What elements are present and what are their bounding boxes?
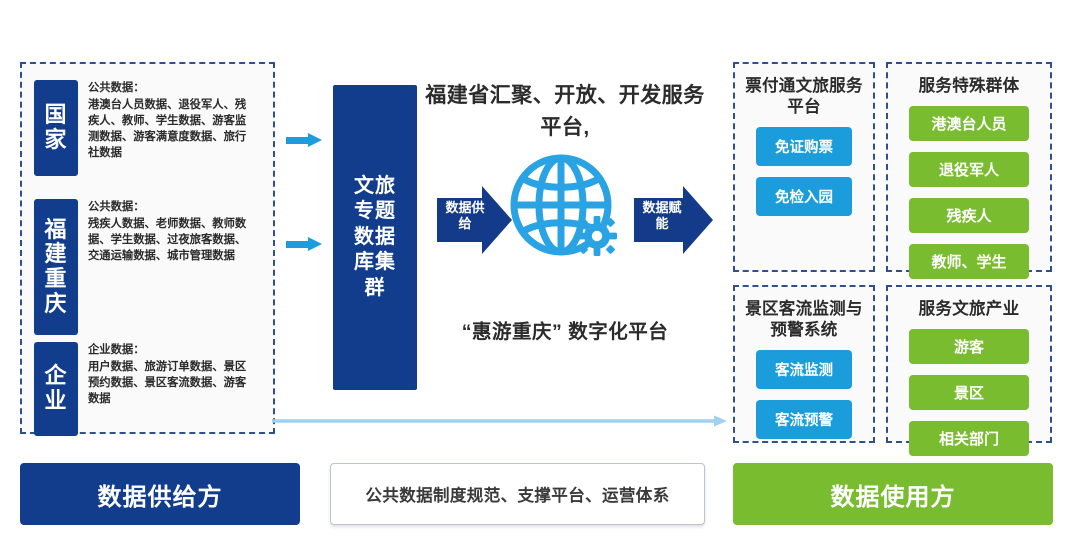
pill-free-inspection-entry[interactable]: 免检入园 xyxy=(756,177,852,216)
feed-arrow-bottom-icon xyxy=(286,237,322,251)
panel-passenger-flow-title: 景区客流监测与预警系统 xyxy=(745,299,863,341)
panel-ticket-service: 票付通文旅服务平台 免证购票 免检入园 xyxy=(733,62,875,272)
arrow-data-empower: 数据赋能 xyxy=(634,186,716,254)
panel-special-groups-title: 服务特殊群体 xyxy=(898,76,1040,97)
pill-scenic-areas[interactable]: 景区 xyxy=(909,375,1029,410)
panel-passenger-flow: 景区客流监测与预警系统 客流监测 客流预警 xyxy=(733,285,875,443)
source-heading-national: 公共数据： xyxy=(88,80,256,96)
pill-disabled[interactable]: 残疾人 xyxy=(909,198,1029,233)
diagram-canvas: 国家 公共数据： 港澳台人员数据、退役军人、残疾人、教师、学生数据、游客监测数据… xyxy=(0,0,1080,548)
pill-flow-monitoring[interactable]: 客流监测 xyxy=(756,350,852,389)
source-label-national-text: 国家 xyxy=(44,103,68,152)
source-label-national: 国家 xyxy=(34,80,78,176)
source-body-national: 港澳台人员数据、退役军人、残疾人、教师、学生数据、游客监测数据、游客满意度数据、… xyxy=(88,99,246,159)
source-detail-provincial: 公共数据： 残疾人数据、老师数据、教师数据、学生数据、过夜旅客数据、交通运输数据… xyxy=(88,199,256,264)
source-body-provincial: 残疾人数据、老师数据、教师数据、学生数据、过夜旅客数据、交通运输数据、城市管理数… xyxy=(88,218,246,262)
data-supply-region: 国家 公共数据： 港澳台人员数据、退役军人、残疾人、教师、学生数据、游客监测数据… xyxy=(20,62,275,434)
panel-special-groups: 服务特殊群体 港澳台人员 退役军人 残疾人 教师、学生 xyxy=(886,62,1052,272)
source-label-provincial: 福建重庆 xyxy=(34,199,78,335)
source-label-enterprise-text: 企业 xyxy=(44,364,68,413)
panel-culture-tourism-industry: 服务文旅产业 游客 景区 相关部门 xyxy=(886,285,1052,443)
source-body-enterprise: 用户数据、旅游订单数据、景区预约数据、景区客流数据、游客数据 xyxy=(88,361,246,405)
digital-platform-title: “惠游重庆” 数字化平台 xyxy=(420,315,710,344)
pill-hk-macau-taiwan[interactable]: 港澳台人员 xyxy=(909,106,1029,141)
bar-public-data-system: 公共数据制度规范、支撑平台、运营体系 xyxy=(330,463,705,525)
thematic-database-cluster-label: 文旅专题数据库集群 xyxy=(352,174,398,302)
pill-teachers-students[interactable]: 教师、学生 xyxy=(909,244,1029,279)
feedback-flow-arrow xyxy=(272,414,727,426)
pill-tourists[interactable]: 游客 xyxy=(909,329,1029,364)
arrow-data-supply: 数据供给 xyxy=(437,186,512,254)
source-heading-enterprise: 企业数据： xyxy=(88,342,256,358)
source-label-provincial-text: 福建重庆 xyxy=(44,218,68,317)
pill-related-departments[interactable]: 相关部门 xyxy=(909,421,1029,456)
data-source-provincial: 福建重庆 公共数据： 残疾人数据、老师数据、教师数据、学生数据、过夜旅客数据、交… xyxy=(34,199,256,335)
globe-gear-icon xyxy=(505,150,625,268)
bar-data-consumer: 数据使用方 xyxy=(733,463,1053,525)
panel-ticket-service-title: 票付通文旅服务平台 xyxy=(745,76,863,118)
data-source-enterprise: 企业 企业数据： 用户数据、旅游订单数据、景区预约数据、景区客流数据、游客数据 xyxy=(34,342,256,436)
source-detail-enterprise: 企业数据： 用户数据、旅游订单数据、景区预约数据、景区客流数据、游客数据 xyxy=(88,342,256,407)
panel-culture-tourism-industry-title: 服务文旅产业 xyxy=(898,299,1040,320)
pill-free-id-ticketing[interactable]: 免证购票 xyxy=(756,127,852,166)
arrow-data-supply-label: 数据供给 xyxy=(445,200,485,232)
arrow-data-empower-label: 数据赋能 xyxy=(642,200,682,232)
pill-veterans[interactable]: 退役军人 xyxy=(909,152,1029,187)
source-detail-national: 公共数据： 港澳台人员数据、退役军人、残疾人、教师、学生数据、游客监测数据、游客… xyxy=(88,80,256,161)
thematic-database-cluster: 文旅专题数据库集群 xyxy=(333,85,417,390)
source-label-enterprise: 企业 xyxy=(34,342,78,436)
feed-arrow-top-icon xyxy=(286,133,322,147)
pill-flow-warning[interactable]: 客流预警 xyxy=(756,400,852,439)
platform-title: 福建省汇聚、开放、开发服务平台, xyxy=(425,80,705,143)
data-source-national: 国家 公共数据： 港澳台人员数据、退役军人、残疾人、教师、学生数据、游客监测数据… xyxy=(34,80,256,176)
bar-data-supplier: 数据供给方 xyxy=(20,463,300,525)
source-heading-provincial: 公共数据： xyxy=(88,199,256,215)
